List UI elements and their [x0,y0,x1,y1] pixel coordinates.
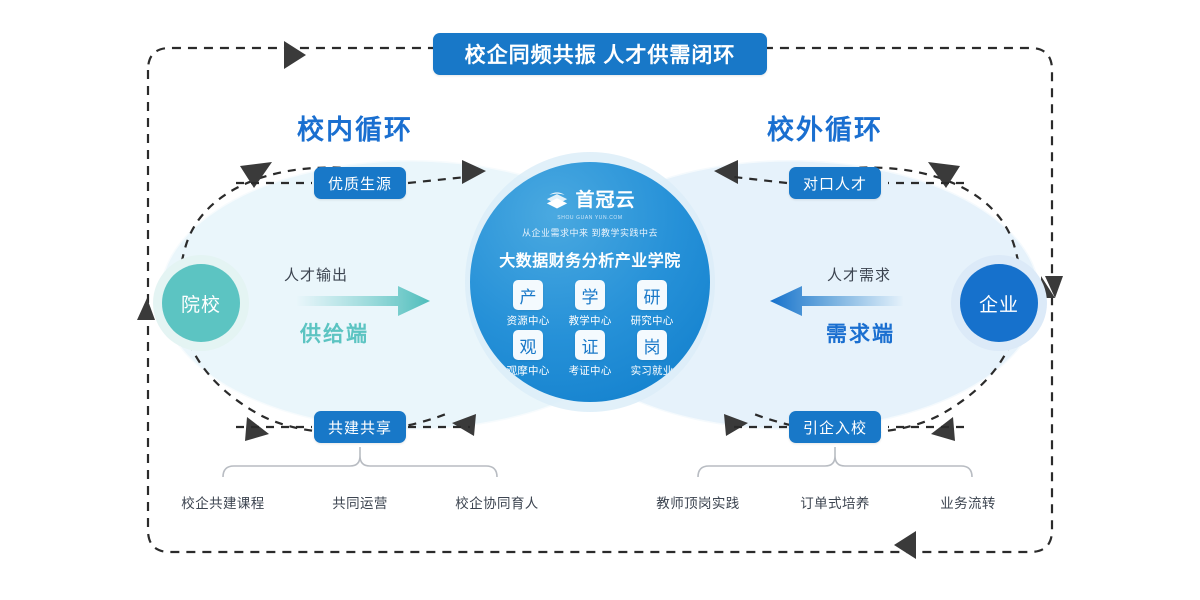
leaf-label: 校企协同育人 [455,492,538,512]
core-tile[interactable]: 研 研究中心 [621,280,683,330]
core-tile[interactable]: 证 考证中心 [559,330,621,380]
core-tile[interactable]: 岗 实习就业 [621,330,683,380]
core-tile[interactable]: 产 资源中心 [497,280,559,330]
diagram-canvas: 校企同频共振 人才供需闭环 校内循环 校外循环 优质生源 共建共享 对口人才 引… [0,0,1200,600]
core-tile-caption: 实习就业 [631,363,674,378]
core-tile-char: 学 [575,280,605,310]
flow-side-demand: 需求端 [826,318,895,348]
core-tile-caption: 研究中心 [631,313,674,328]
pill-enterprise-into-campus[interactable]: 引企入校 [789,411,881,443]
section-heading-inner: 校内循环 [297,108,413,147]
brand-name: 首冠云 [575,191,635,210]
core-tile[interactable]: 学 教学中心 [559,280,621,330]
flow-caption-talent-demand: 人才需求 [827,264,891,285]
flow-side-supply: 供给端 [300,318,369,348]
core-tile-grid: 产 资源中心 学 教学中心 研 研究中心 观 观摩中心 证 考证中心 [497,280,683,380]
leaf-label: 共同运营 [332,492,388,512]
core-tile[interactable]: 观 观摩中心 [497,330,559,380]
core-tile-caption: 资源中心 [507,313,550,328]
flow-caption-talent-output: 人才输出 [284,264,348,285]
core-tile-caption: 考证中心 [569,363,612,378]
brace-right [698,447,972,477]
brand-tagline: 从企业需求中来 到教学实践中去 [522,226,658,239]
brand-logo: 首冠云 [544,187,635,213]
core-tile-char: 岗 [637,330,667,360]
core-tile-char: 产 [513,280,543,310]
core-tile-char: 证 [575,330,605,360]
endpoint-school[interactable]: 院校 [162,264,240,342]
stacked-books-icon [544,189,570,211]
core-content: 首冠云 SHOU GUAN YUN.COM 从企业需求中来 到教学实践中去 大数… [470,162,710,402]
core-tile-char: 研 [637,280,667,310]
brace-left [223,447,497,477]
leaf-label: 订单式培养 [800,492,870,512]
pill-co-build-share[interactable]: 共建共享 [314,411,406,443]
pill-quality-students[interactable]: 优质生源 [314,167,406,199]
core-tile-caption: 教学中心 [569,313,612,328]
section-heading-outer: 校外循环 [767,108,883,147]
core-tile-char: 观 [513,330,543,360]
brand-domain: SHOU GUAN YUN.COM [557,215,622,221]
leaf-label: 校企共建课程 [181,492,264,512]
leaf-label: 业务流转 [940,492,996,512]
core-title: 大数据财务分析产业学院 [499,247,681,271]
endpoint-enterprise[interactable]: 企业 [960,264,1038,342]
pill-matched-talent[interactable]: 对口人才 [789,167,881,199]
leaf-label: 教师顶岗实践 [656,492,739,512]
core-tile-caption: 观摩中心 [507,363,550,378]
title-banner: 校企同频共振 人才供需闭环 [433,33,767,75]
